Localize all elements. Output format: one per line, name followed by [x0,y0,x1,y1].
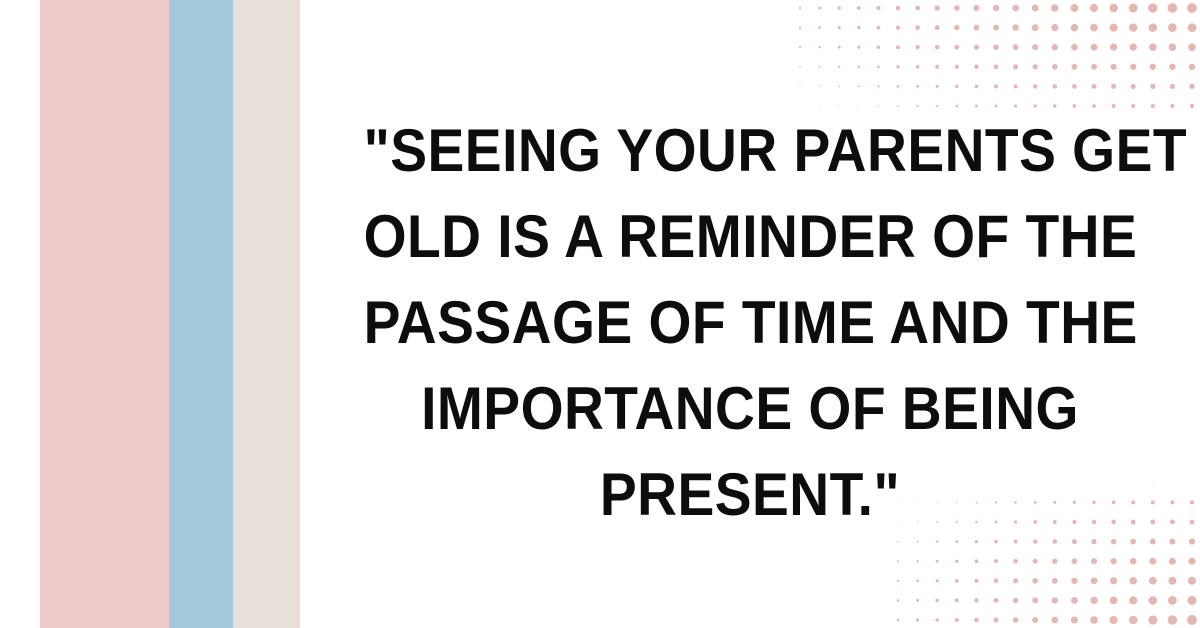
pink-stripe [40,0,169,628]
quote-line-1: "SEEING YOUR PARENTS GET [364,108,1137,194]
quote-line-5: PRESENT." [364,452,1137,538]
top-right-halftone-dots [784,0,1200,122]
quote-line-4: IMPORTANCE OF BEING [364,366,1137,452]
blue-stripe [169,0,233,628]
quote-graphic-canvas: "SEEING YOUR PARENTS GET OLD IS A REMIND… [0,0,1200,628]
quote-line-2: OLD IS A REMINDER OF THE [364,194,1137,280]
beige-stripe [233,0,300,628]
quote-text-block: "SEEING YOUR PARENTS GET OLD IS A REMIND… [330,108,1170,538]
quote-line-3: PASSAGE OF TIME AND THE [364,280,1137,366]
